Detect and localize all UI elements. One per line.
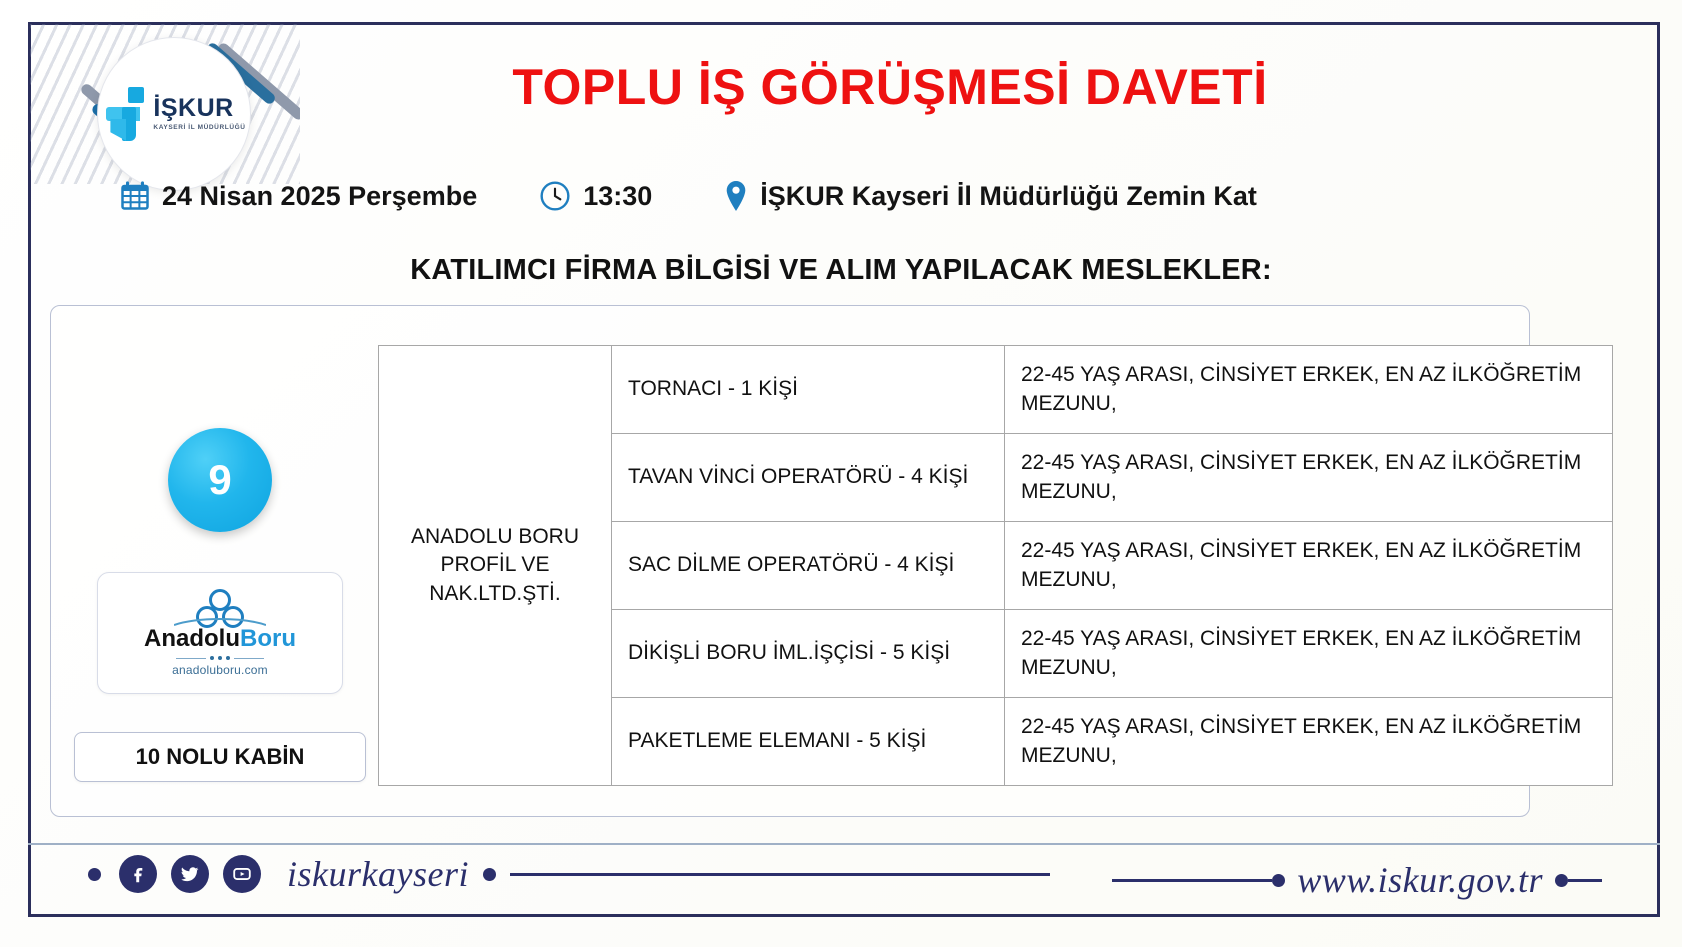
job-cell: PAKETLEME ELEMANI - 5 KİŞİ [612,698,1005,786]
company-logo-name-part1: Anadolu [144,625,240,652]
bullet-dot [1555,874,1568,887]
requirement-cell: 22-45 YAŞ ARASI, CİNSİYET ERKEK, EN AZ İ… [1005,610,1613,698]
requirement-cell: 22-45 YAŞ ARASI, CİNSİYET ERKEK, EN AZ İ… [1005,434,1613,522]
event-time: 13:30 [539,180,652,212]
job-cell: DİKİŞLİ BORU İML.İŞÇİSİ - 5 KİŞİ [612,610,1005,698]
footer-social: iskurkayseri [88,853,1050,895]
requirement-cell: 22-45 YAŞ ARASI, CİNSİYET ERKEK, EN AZ İ… [1005,346,1613,434]
table-row: ANADOLU BORU PROFİL VE NAK.LTD.ŞTİ. TORN… [379,346,1613,434]
event-info-row: 24 Nisan 2025 Perşembe 13:30 İŞKUR Kayse… [120,180,1540,212]
social-handle: iskurkayseri [287,853,469,895]
company-logo-name: AnadoluBoru [144,627,296,651]
footer-line [510,873,1050,876]
jobs-table-body: ANADOLU BORU PROFİL VE NAK.LTD.ŞTİ. TORN… [379,346,1613,786]
job-cell: TORNACI - 1 KİŞİ [612,346,1005,434]
jobs-table: ANADOLU BORU PROFİL VE NAK.LTD.ŞTİ. TORN… [378,345,1613,786]
order-badge: 9 [168,428,272,532]
event-date: 24 Nisan 2025 Perşembe [120,181,477,212]
requirement-cell: 22-45 YAŞ ARASI, CİNSİYET ERKEK, EN AZ İ… [1005,522,1613,610]
map-pin-icon [724,180,748,212]
bullet-dot [88,868,101,881]
bullet-dot [1272,874,1285,887]
iskur-mark-icon [106,87,146,141]
footer: iskurkayseri www.iskur.gov.tr [28,843,1660,917]
poster-canvas: İŞKUR KAYSERİ İL MÜDÜRLÜĞÜ TOPLU İŞ GÖRÜ… [0,0,1682,947]
company-logo: AnadoluBoru anadoluboru.com [97,572,343,694]
job-cell: TAVAN VİNCİ OPERATÖRÜ - 4 KİŞİ [612,434,1005,522]
website-text: www.iskur.gov.tr [1297,859,1543,901]
anadoluboru-mark-icon [174,589,266,629]
footer-website: www.iskur.gov.tr [1112,859,1602,901]
logo-divider [176,656,264,660]
company-website: anadoluboru.com [172,663,268,677]
footer-line [1568,879,1602,882]
requirement-cell: 22-45 YAŞ ARASI, CİNSİYET ERKEK, EN AZ İ… [1005,698,1613,786]
section-subtitle: KATILIMCI FİRMA BİLGİSİ VE ALIM YAPILACA… [0,254,1682,287]
iskur-branch-text: KAYSERİ İL MÜDÜRLÜĞÜ [153,125,245,132]
event-location: İŞKUR Kayseri İl Müdürlüğü Zemin Kat [724,180,1257,212]
youtube-icon[interactable] [223,855,261,893]
calendar-icon [120,181,150,211]
company-panel: 9 AnadoluBoru anadoluboru.com 10 NOLU KA… [70,320,370,810]
company-name-cell: ANADOLU BORU PROFİL VE NAK.LTD.ŞTİ. [379,346,612,786]
bullet-dot [483,868,496,881]
iskur-logo: İŞKUR KAYSERİ İL MÜDÜRLÜĞÜ [98,38,250,190]
cabin-label: 10 NOLU KABİN [74,732,366,782]
footer-line [1112,879,1272,882]
facebook-icon[interactable] [119,855,157,893]
iskur-brand-text: İŞKUR [153,96,245,121]
company-logo-name-part2: Boru [240,625,296,652]
page-title: TOPLU İŞ GÖRÜŞMESİ DAVETİ [440,58,1340,116]
event-time-text: 13:30 [583,181,652,212]
job-cell: SAC DİLME OPERATÖRÜ - 4 KİŞİ [612,522,1005,610]
event-location-text: İŞKUR Kayseri İl Müdürlüğü Zemin Kat [760,181,1257,212]
event-date-text: 24 Nisan 2025 Perşembe [162,181,477,212]
twitter-icon[interactable] [171,855,209,893]
clock-icon [539,180,571,212]
